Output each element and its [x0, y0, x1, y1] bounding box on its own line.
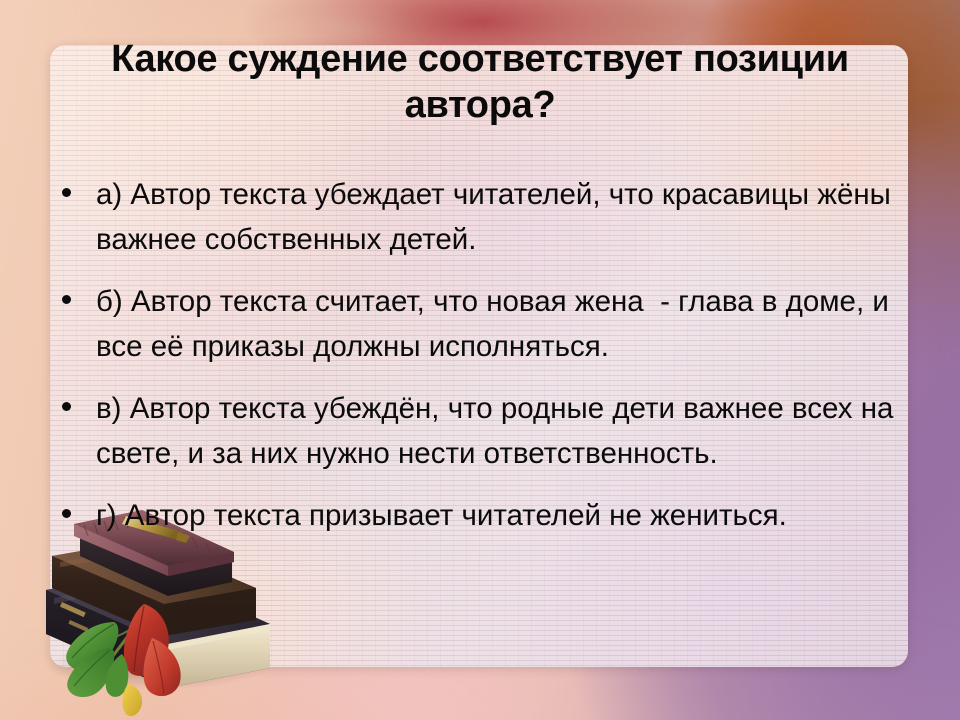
bullet-dot-icon	[62, 509, 71, 518]
list-item[interactable]: г) Автор текста призывает читателей не ж…	[50, 493, 920, 538]
bullet-dot-icon	[62, 402, 71, 411]
bullet-dot-icon	[62, 295, 71, 304]
list-item[interactable]: б) Автор текста считает, что новая жена …	[50, 279, 920, 370]
list-item[interactable]: в) Автор текста убеждён, что родные дети…	[50, 386, 920, 477]
slide-title: Какое суждение соответствует позиции авт…	[50, 36, 910, 129]
option-d-text: г) Автор текста призывает читателей не ж…	[96, 499, 787, 532]
list-item[interactable]: а) Автор текста убеждает читателей, что …	[50, 172, 920, 263]
option-b-text: б) Автор текста считает, что новая жена …	[96, 285, 897, 363]
option-a-text: а) Автор текста убеждает читателей, что …	[96, 178, 899, 256]
option-c-text: в) Автор текста убеждён, что родные дети…	[96, 392, 902, 470]
answer-options-list: а) Автор текста убеждает читателей, что …	[50, 172, 920, 554]
bullet-dot-icon	[62, 188, 71, 197]
presentation-slide: Какое суждение соответствует позиции авт…	[0, 0, 960, 720]
